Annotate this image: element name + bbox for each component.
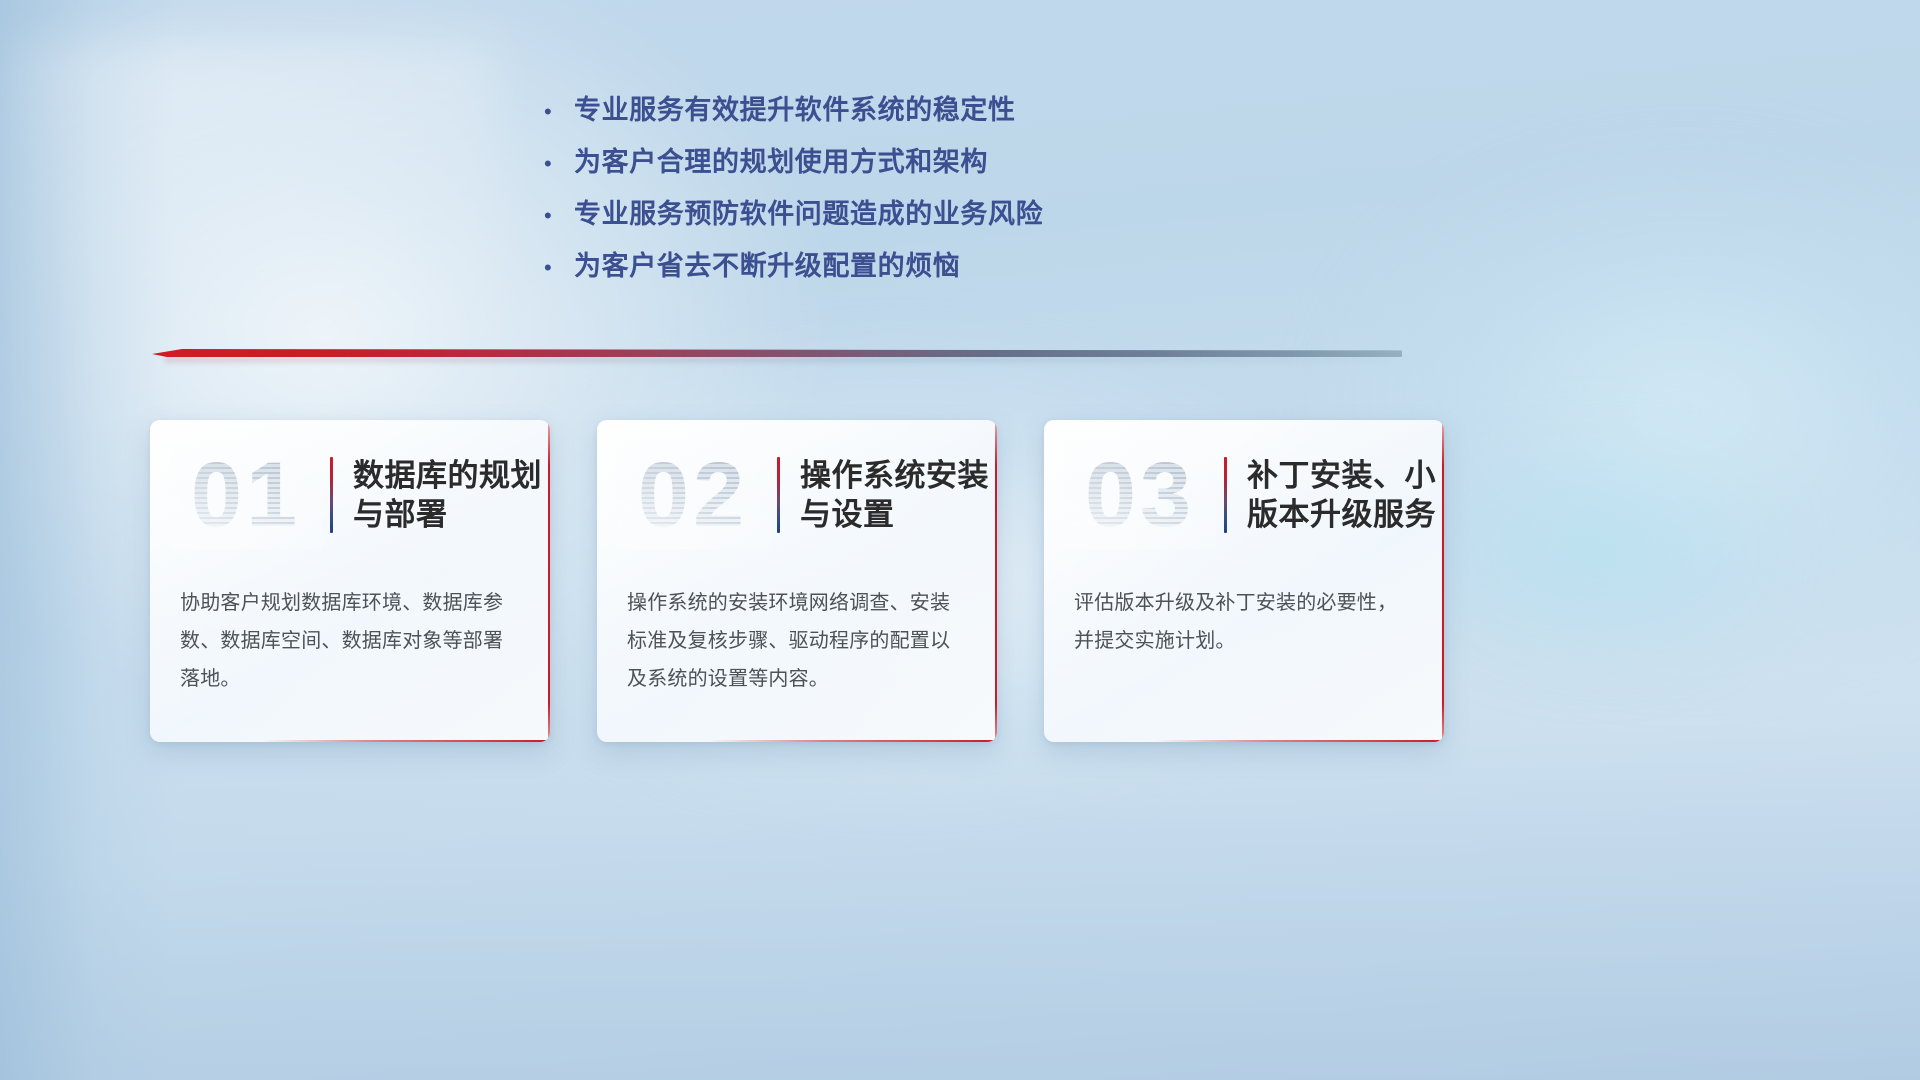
card-title-rule [1224,457,1227,533]
bullet-marker-icon: • [540,101,574,123]
bullet-text: 专业服务预防软件问题造成的业务风险 [574,192,1043,231]
card-number: 02 [623,441,763,549]
service-card[interactable]: 03 补丁安装、小 版本升级服务 评估版本升级及补丁安装的必要性，并提交实施计划… [1044,420,1444,742]
card-accent-edge-bottom [709,740,997,743]
card-accent-edge-bottom [262,740,550,743]
card-number: 01 [176,441,316,549]
bullet-text: 为客户省去不断升级配置的烦恼 [574,244,960,283]
divider-shadow [165,357,1390,362]
card-title-rule [777,457,780,533]
list-item: • 专业服务预防软件问题造成的业务风险 [540,192,1240,244]
bullet-text: 为客户合理的规划使用方式和架构 [574,140,988,179]
divider-bar [152,349,1402,357]
card-body-text: 评估版本升级及补丁安装的必要性，并提交实施计划。 [1044,570,1444,660]
card-header: 01 数据库的规划 与部署 [150,420,550,570]
card-body-text: 协助客户规划数据库环境、数据库参数、数据库空间、数据库对象等部署落地。 [150,570,550,698]
bullet-marker-icon: • [540,153,574,175]
bullet-marker-icon: • [540,205,574,227]
card-header: 02 操作系统安装 与设置 [597,420,997,570]
service-card[interactable]: 02 操作系统安装 与设置 操作系统的安装环境网络调查、安装标准及复核步骤、驱动… [597,420,997,742]
card-title: 补丁安装、小 版本升级服务 [1247,456,1436,534]
card-body-text: 操作系统的安装环境网络调查、安装标准及复核步骤、驱动程序的配置以及系统的设置等内… [597,570,997,698]
card-title: 操作系统安装 与设置 [800,456,989,534]
card-header: 03 补丁安装、小 版本升级服务 [1044,420,1444,570]
list-item: • 为客户省去不断升级配置的烦恼 [540,244,1240,296]
list-item: • 为客户合理的规划使用方式和架构 [540,140,1240,192]
card-title-rule [330,457,333,533]
bullet-text: 专业服务有效提升软件系统的稳定性 [574,88,1016,127]
card-accent-edge-bottom [1156,740,1444,743]
service-card-list: 01 数据库的规划 与部署 协助客户规划数据库环境、数据库参数、数据库空间、数据… [150,420,1444,742]
card-title: 数据库的规划 与部署 [353,456,542,534]
section-divider [152,344,1402,366]
background-left-edge [0,0,173,1080]
benefits-bullet-list: • 专业服务有效提升软件系统的稳定性 • 为客户合理的规划使用方式和架构 • 专… [540,88,1240,296]
card-number: 03 [1070,441,1210,549]
service-card[interactable]: 01 数据库的规划 与部署 协助客户规划数据库环境、数据库参数、数据库空间、数据… [150,420,550,742]
bullet-marker-icon: • [540,257,574,279]
list-item: • 专业服务有效提升软件系统的稳定性 [540,88,1240,140]
